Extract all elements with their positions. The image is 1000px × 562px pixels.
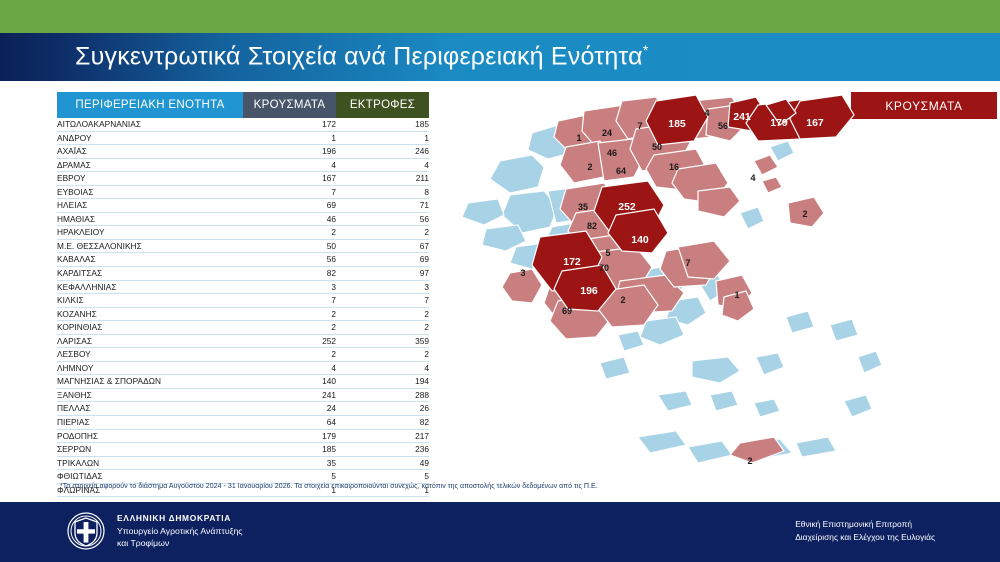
table-row[interactable]: ΕΒΡΟΥ167211	[57, 172, 429, 186]
table-row[interactable]: ΗΡΑΚΛΕΙΟΥ22	[57, 226, 429, 240]
cell-farms: 49	[336, 456, 429, 470]
table-row[interactable]: ΡΟΔΟΠΗΣ179217	[57, 429, 429, 443]
cell-cases: 2	[243, 307, 336, 321]
cell-cases: 64	[243, 416, 336, 430]
table-row[interactable]: ΤΡΙΚΑΛΩΝ3549	[57, 456, 429, 470]
cell-farms: 1	[336, 131, 429, 145]
cell-cases: 5	[243, 470, 336, 484]
cell-farms: 7	[336, 294, 429, 308]
table-row[interactable]: ΚΟΡΙΝΘΙΑΣ22	[57, 321, 429, 335]
cell-farms: 5	[336, 470, 429, 484]
cell-cases: 241	[243, 388, 336, 402]
cell-cases: 167	[243, 172, 336, 186]
cell-farms: 2	[336, 321, 429, 335]
cell-cases: 179	[243, 429, 336, 443]
cell-cases: 196	[243, 145, 336, 159]
table-header-row: ΠΕΡΙΦΕΡΕΙΑΚΗ ΕΝΟΤΗΤΑ ΚΡΟΥΣΜΑΤΑ ΕΚΤΡΟΦΕΣ	[57, 92, 429, 118]
gov-line-3: και Τροφίμων	[117, 537, 242, 549]
table-row[interactable]: ΠΙΕΡΙΑΣ6482	[57, 416, 429, 430]
cell-region-name: ΕΒΡΟΥ	[57, 172, 243, 186]
cell-cases: 82	[243, 267, 336, 281]
table-row[interactable]: ΜΑΓΝΗΣΙΑΣ & ΣΠΟΡΑΔΩΝ140194	[57, 375, 429, 389]
page-title-text: Συγκεντρωτικά Στοιχεία ανά Περιφερειακή …	[75, 43, 643, 71]
cell-cases: 46	[243, 212, 336, 226]
cell-cases: 24	[243, 402, 336, 416]
cell-region-name: ΚΟΡΙΝΘΙΑΣ	[57, 321, 243, 335]
cell-region-name: Μ.Ε. ΘΕΣΣΑΛΟΝΙΚΗΣ	[57, 239, 243, 253]
cell-cases: 35	[243, 456, 336, 470]
cell-region-name: ΦΘΙΩΤΙΔΑΣ	[57, 470, 243, 484]
cell-cases: 1	[243, 131, 336, 145]
cell-cases: 56	[243, 253, 336, 267]
cell-cases: 3	[243, 280, 336, 294]
cell-region-name: ΛΑΡΙΣΑΣ	[57, 334, 243, 348]
table-header: ΠΕΡΙΦΕΡΕΙΑΚΗ ΕΝΟΤΗΤΑ ΚΡΟΥΣΜΑΤΑ ΕΚΤΡΟΦΕΣ	[57, 92, 429, 118]
cell-farms: 2	[336, 307, 429, 321]
cell-farms: 4	[336, 158, 429, 172]
cell-farms: 236	[336, 443, 429, 457]
cell-region-name: ΚΙΛΚΙΣ	[57, 294, 243, 308]
cell-region-name: ΚΕΦΑΛΛΗΝΙΑΣ	[57, 280, 243, 294]
column-header-region[interactable]: ΠΕΡΙΦΕΡΕΙΑΚΗ ΕΝΟΤΗΤΑ	[57, 92, 243, 118]
cell-farms: 8	[336, 185, 429, 199]
table-row[interactable]: ΑΧΑΪΑΣ196246	[57, 145, 429, 159]
table-row[interactable]: ΑΝΔΡΟΥ11	[57, 131, 429, 145]
table-row[interactable]: ΚΟΖΑΝΗΣ22	[57, 307, 429, 321]
cell-region-name: ΕΥΒΟΙΑΣ	[57, 185, 243, 199]
table-row[interactable]: Μ.Ε. ΘΕΣΣΑΛΟΝΙΚΗΣ5067	[57, 239, 429, 253]
cell-region-name: ΡΟΔΟΠΗΣ	[57, 429, 243, 443]
cell-cases: 2	[243, 348, 336, 362]
committee-line-2: Διαχείρισης και Ελέγχου της Ευλογιάς	[795, 531, 935, 544]
table-row[interactable]: ΠΕΛΛΑΣ2426	[57, 402, 429, 416]
cell-cases: 2	[243, 321, 336, 335]
cell-farms: 2	[336, 226, 429, 240]
committee-text: Εθνική Επιστημονική Επιτροπή Διαχείρισης…	[795, 518, 935, 543]
cell-cases: 4	[243, 361, 336, 375]
cell-region-name: ΛΗΜΝΟΥ	[57, 361, 243, 375]
cell-farms: 97	[336, 267, 429, 281]
footer: ΕΛΛΗΝΙΚΗ ΔΗΜΟΚΡΑΤΙΑ Υπουργείο Αγροτικής …	[0, 500, 1000, 562]
cell-cases: 7	[243, 185, 336, 199]
cell-region-name: ΑΧΑΪΑΣ	[57, 145, 243, 159]
table-row[interactable]: ΑΙΤΩΛΟΑΚΑΡΝΑΝΙΑΣ172185	[57, 118, 429, 131]
table-body: ΑΙΤΩΛΟΑΚΑΡΝΑΝΙΑΣ172185ΑΝΔΡΟΥ11ΑΧΑΪΑΣ1962…	[57, 118, 429, 524]
summary-table: ΠΕΡΙΦΕΡΕΙΑΚΗ ΕΝΟΤΗΤΑ ΚΡΟΥΣΜΑΤΑ ΕΚΤΡΟΦΕΣ …	[57, 92, 429, 524]
cell-region-name: ΛΕΣΒΟΥ	[57, 348, 243, 362]
government-text: ΕΛΛΗΝΙΚΗ ΔΗΜΟΚΡΑΤΙΑ Υπουργείο Αγροτικής …	[117, 511, 242, 549]
cell-farms: 82	[336, 416, 429, 430]
cell-region-name: ΗΡΑΚΛΕΙΟΥ	[57, 226, 243, 240]
column-header-cases[interactable]: ΚΡΟΥΣΜΑΤΑ	[243, 92, 336, 118]
cell-region-name: ΔΡΑΜΑΣ	[57, 158, 243, 172]
cell-cases: 185	[243, 443, 336, 457]
cell-farms: 67	[336, 239, 429, 253]
cell-region-name: ΚΑΡΔΙΤΣΑΣ	[57, 267, 243, 281]
page-title-asterisk: *	[643, 42, 649, 58]
cell-farms: 3	[336, 280, 429, 294]
cell-region-name: ΠΕΛΛΑΣ	[57, 402, 243, 416]
map-svg	[440, 95, 1000, 485]
cell-farms: 69	[336, 253, 429, 267]
table-row[interactable]: ΗΛΕΙΑΣ6971	[57, 199, 429, 213]
title-bar: Συγκεντρωτικά Στοιχεία ανά Περιφερειακή …	[0, 33, 1000, 81]
table-row[interactable]: ΦΘΙΩΤΙΔΑΣ55	[57, 470, 429, 484]
committee-line-1: Εθνική Επιστημονική Επιτροπή	[795, 518, 935, 531]
cell-farms: 4	[336, 361, 429, 375]
greece-choropleth-map[interactable]: 1247185456241179167465026416423525282140…	[440, 95, 1000, 485]
gov-line-1: ΕΛΛΗΝΙΚΗ ΔΗΜΟΚΡΑΤΙΑ	[117, 513, 242, 525]
cell-farms: 185	[336, 118, 429, 131]
cell-farms: 56	[336, 212, 429, 226]
table-row[interactable]: ΛΕΣΒΟΥ22	[57, 348, 429, 362]
cell-farms: 288	[336, 388, 429, 402]
green-accent-bar	[0, 0, 1000, 33]
table-row[interactable]: ΚΕΦΑΛΛΗΝΙΑΣ33	[57, 280, 429, 294]
table-row[interactable]: ΚΙΛΚΙΣ77	[57, 294, 429, 308]
cell-farms: 211	[336, 172, 429, 186]
table-row[interactable]: ΣΕΡΡΩΝ185236	[57, 443, 429, 457]
table-row[interactable]: ΚΑΡΔΙΤΣΑΣ8297	[57, 267, 429, 281]
cell-cases: 140	[243, 375, 336, 389]
column-header-farms[interactable]: ΕΚΤΡΟΦΕΣ	[336, 92, 429, 118]
cell-region-name: ΗΛΕΙΑΣ	[57, 199, 243, 213]
government-branding: ΕΛΛΗΝΙΚΗ ΔΗΜΟΚΡΑΤΙΑ Υπουργείο Αγροτικής …	[66, 511, 242, 551]
cell-region-name: ΠΙΕΡΙΑΣ	[57, 416, 243, 430]
cell-cases: 2	[243, 226, 336, 240]
cell-farms: 71	[336, 199, 429, 213]
cell-region-name: ΞΑΝΘΗΣ	[57, 388, 243, 402]
cell-farms: 246	[336, 145, 429, 159]
cell-region-name: ΤΡΙΚΑΛΩΝ	[57, 456, 243, 470]
cell-region-name: ΚΑΒΑΛΑΣ	[57, 253, 243, 267]
cell-region-name: ΣΕΡΡΩΝ	[57, 443, 243, 457]
cell-cases: 172	[243, 118, 336, 131]
cell-region-name: ΜΑΓΝΗΣΙΑΣ & ΣΠΟΡΑΔΩΝ	[57, 375, 243, 389]
cell-cases: 4	[243, 158, 336, 172]
cell-cases: 7	[243, 294, 336, 308]
table-row[interactable]: ΛΑΡΙΣΑΣ252359	[57, 334, 429, 348]
greek-coat-of-arms-icon	[66, 511, 106, 551]
table-row[interactable]: ΗΜΑΘΙΑΣ4656	[57, 212, 429, 226]
cell-farms: 359	[336, 334, 429, 348]
cell-region-name: ΑΙΤΩΛΟΑΚΑΡΝΑΝΙΑΣ	[57, 118, 243, 131]
cell-farms: 26	[336, 402, 429, 416]
table-row[interactable]: ΕΥΒΟΙΑΣ78	[57, 185, 429, 199]
cell-farms: 2	[336, 348, 429, 362]
cell-farms: 194	[336, 375, 429, 389]
cell-cases: 69	[243, 199, 336, 213]
table-row[interactable]: ΞΑΝΘΗΣ241288	[57, 388, 429, 402]
cell-farms: 217	[336, 429, 429, 443]
cell-region-name: ΗΜΑΘΙΑΣ	[57, 212, 243, 226]
table-row[interactable]: ΔΡΑΜΑΣ44	[57, 158, 429, 172]
cell-region-name: ΚΟΖΑΝΗΣ	[57, 307, 243, 321]
gov-line-2: Υπουργείο Αγροτικής Ανάπτυξης	[117, 525, 242, 537]
cell-cases: 50	[243, 239, 336, 253]
page-title: Συγκεντρωτικά Στοιχεία ανά Περιφερειακή …	[75, 42, 648, 71]
table-row[interactable]: ΚΑΒΑΛΑΣ5669	[57, 253, 429, 267]
cell-cases: 252	[243, 334, 336, 348]
cell-region-name: ΑΝΔΡΟΥ	[57, 131, 243, 145]
table-row[interactable]: ΛΗΜΝΟΥ44	[57, 361, 429, 375]
slide-root: Συγκεντρωτικά Στοιχεία ανά Περιφερειακή …	[0, 0, 1000, 562]
footer-divider	[0, 500, 1000, 502]
